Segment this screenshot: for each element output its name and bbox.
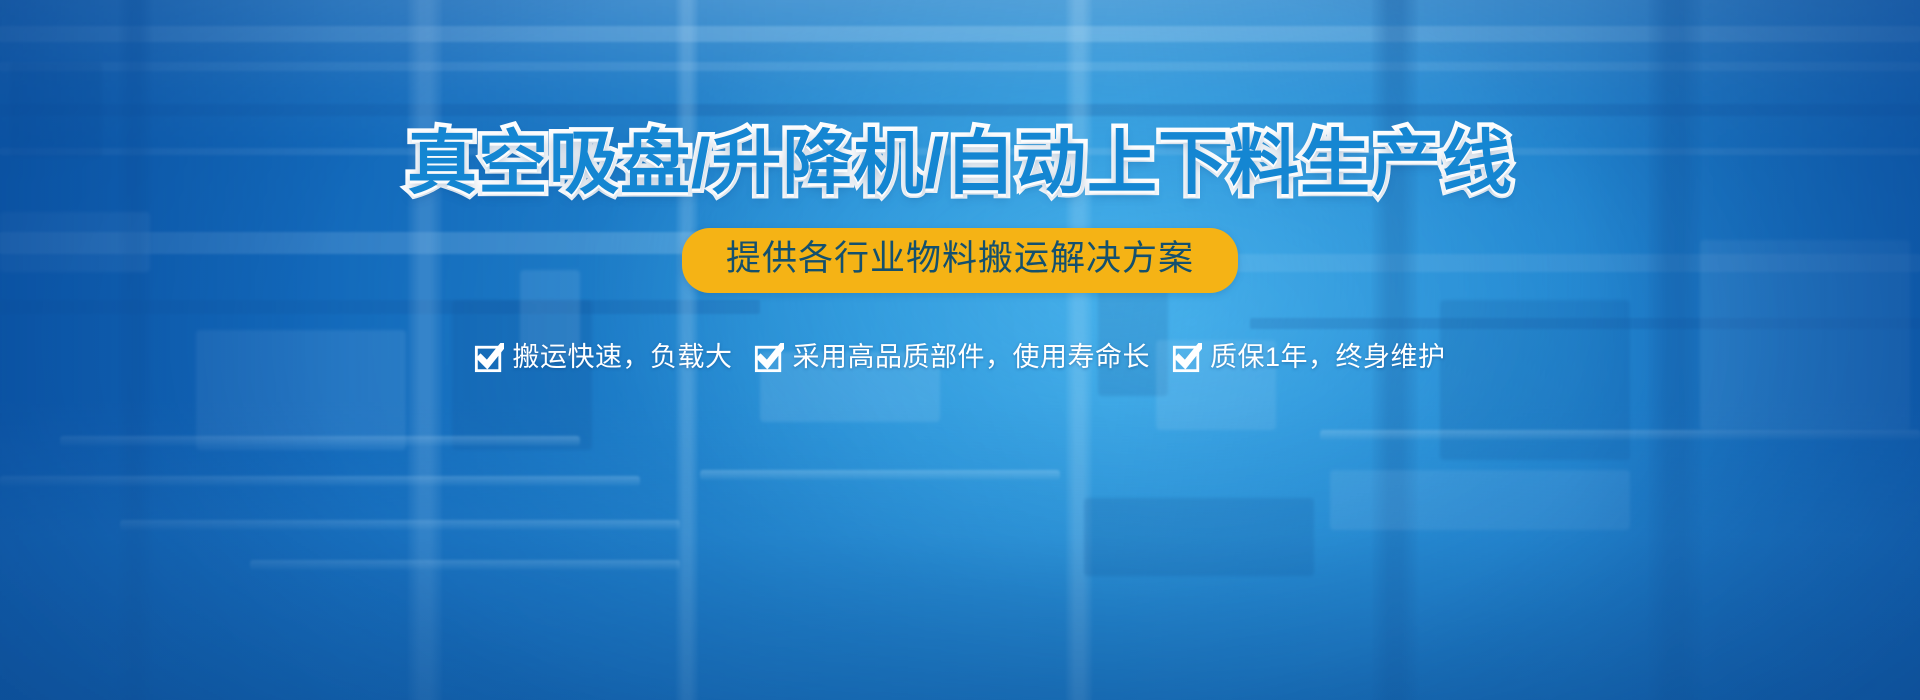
feature-item: 质保1年，终身维护: [1172, 343, 1446, 373]
checkbox-check-icon: [754, 343, 784, 373]
promo-banner: 真空吸盘/升降机/自动上下料生产线 提供各行业物料搬运解决方案 搬运快速，负载大…: [0, 0, 1920, 700]
checkbox-check-icon: [1172, 343, 1202, 373]
feature-label: 采用高品质部件，使用寿命长: [792, 344, 1150, 371]
page-title: 真空吸盘/升降机/自动上下料生产线: [407, 128, 1513, 198]
subtitle-text: 提供各行业物料搬运解决方案: [726, 237, 1194, 281]
feature-item: 采用高品质部件，使用寿命长: [754, 343, 1150, 373]
checkbox-check-icon: [474, 343, 504, 373]
banner-content: 真空吸盘/升降机/自动上下料生产线 提供各行业物料搬运解决方案 搬运快速，负载大…: [0, 0, 1920, 700]
feature-label: 搬运快速，负载大: [512, 344, 732, 371]
subtitle-badge: 提供各行业物料搬运解决方案: [682, 228, 1238, 293]
feature-list: 搬运快速，负载大 采用高品质部件，使用寿命长 质保1年，终身维护: [474, 343, 1445, 373]
feature-item: 搬运快速，负载大: [474, 343, 732, 373]
feature-label: 质保1年，终身维护: [1210, 344, 1446, 371]
